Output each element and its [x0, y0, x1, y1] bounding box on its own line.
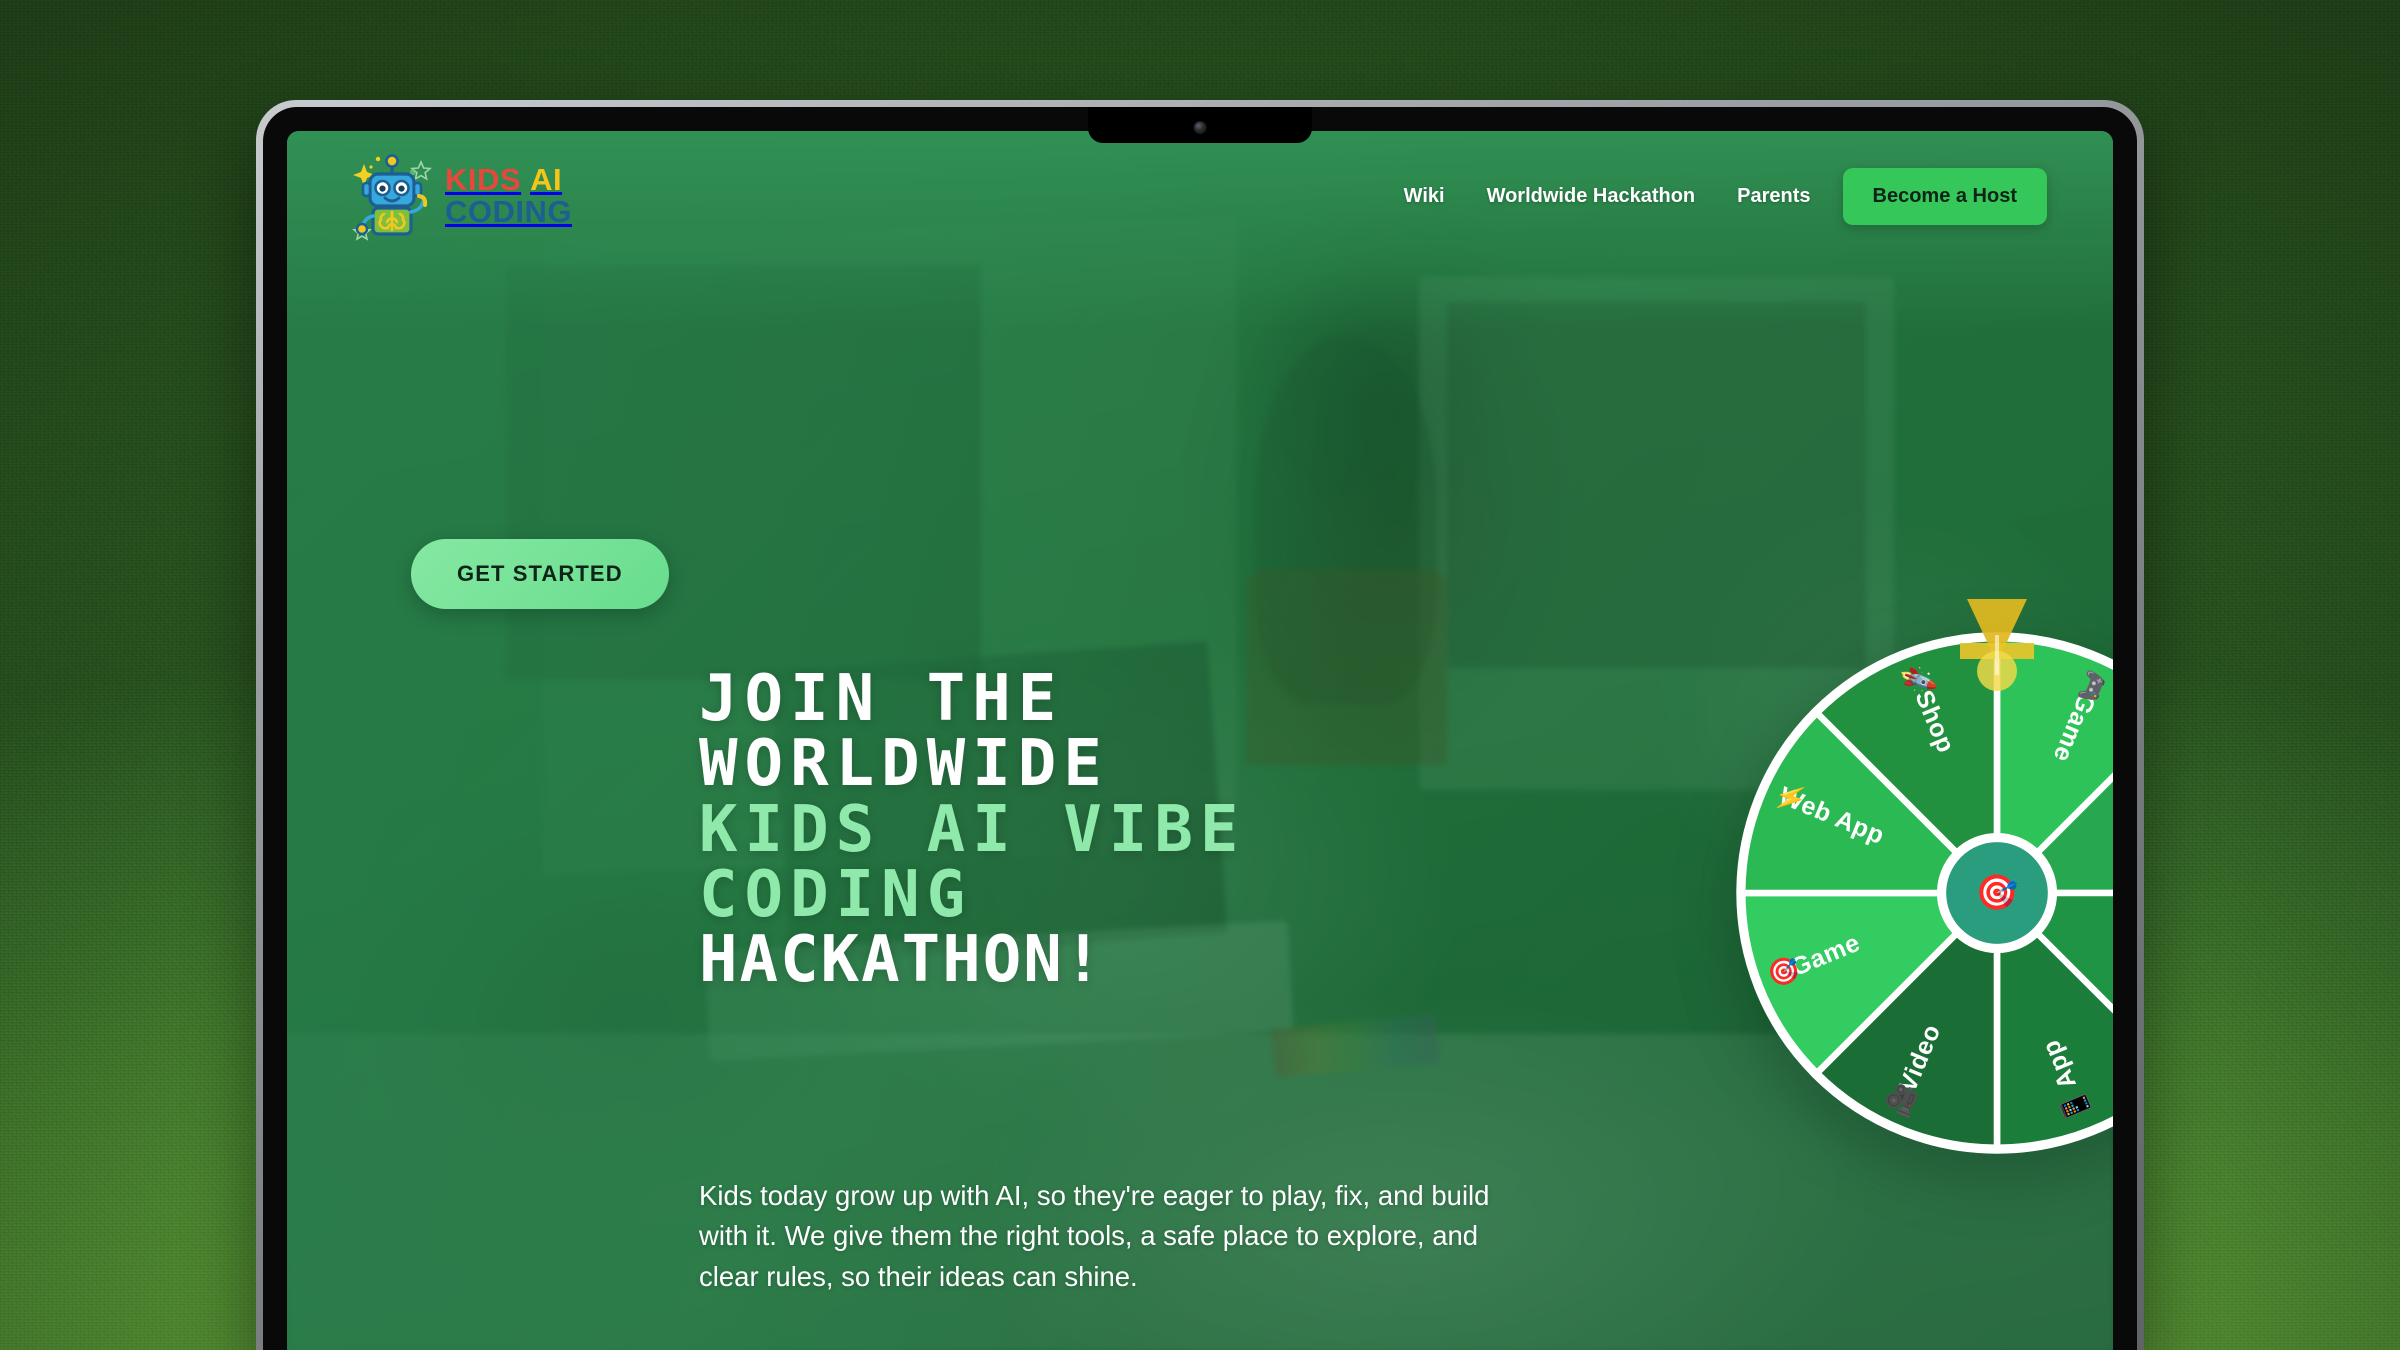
site-logo[interactable]: KIDSAI CODING: [351, 150, 572, 242]
hero-description: Kids today grow up with AI, so they're e…: [699, 1176, 1499, 1297]
logo-ai-text: AI: [530, 162, 562, 197]
headline-line-2: WORLDWIDE: [699, 732, 1519, 797]
logo-kids-text: KIDS: [445, 162, 521, 197]
pointer-stem: [1995, 635, 1999, 675]
hero-headline: JOIN THE WORLDWIDE KIDS AI VIBE CODING H…: [699, 667, 1519, 993]
become-a-host-button[interactable]: Become a Host: [1843, 168, 2048, 225]
primary-navigation: Wiki Worldwide Hackathon Parents Become …: [1394, 168, 2047, 225]
get-started-button[interactable]: GET STARTED: [411, 539, 669, 609]
hero-section: GET STARTED JOIN THE WORLDWIDE KIDS AI V…: [287, 131, 1346, 1350]
nav-link-wiki[interactable]: Wiki: [1394, 179, 1455, 214]
laptop-device-frame: KIDSAI CODING Wiki Worldwide Hackathon P…: [256, 100, 2144, 1350]
webcam-icon: [1195, 122, 1206, 133]
nav-link-worldwide-hackathon[interactable]: Worldwide Hackathon: [1477, 179, 1706, 214]
headline-line-4: CODING: [699, 863, 1519, 928]
headline-line-3: KIDS AI VIBE: [699, 798, 1519, 863]
logo-line-one: KIDSAI: [445, 165, 572, 195]
headline-line-1: JOIN THE: [699, 667, 1519, 732]
nav-link-parents[interactable]: Parents: [1727, 179, 1820, 214]
laptop-screen: KIDSAI CODING Wiki Worldwide Hackathon P…: [287, 131, 2113, 1350]
hub-target-icon: 🎯: [1976, 873, 2019, 912]
logo-coding-text: CODING: [445, 197, 572, 227]
site-header: KIDSAI CODING Wiki Worldwide Hackathon P…: [287, 131, 2113, 261]
headline-line-5: HACKATHON!: [699, 928, 1519, 993]
laptop-bezel: KIDSAI CODING Wiki Worldwide Hackathon P…: [263, 107, 2137, 1350]
spin-wheel[interactable]: Game🎮Social💻Website🌐App📱Video🎥Game🎯Web A…: [1733, 629, 2113, 1157]
robot-mascot-icon: [351, 150, 433, 242]
logo-wordmark: KIDSAI CODING: [445, 165, 572, 227]
wheel-svg[interactable]: Game🎮Social💻Website🌐App📱Video🎥Game🎯Web A…: [1733, 629, 2113, 1157]
spin-wheel-widget[interactable]: Game🎮Social💻Website🌐App📱Video🎥Game🎯Web A…: [1687, 571, 2113, 1191]
